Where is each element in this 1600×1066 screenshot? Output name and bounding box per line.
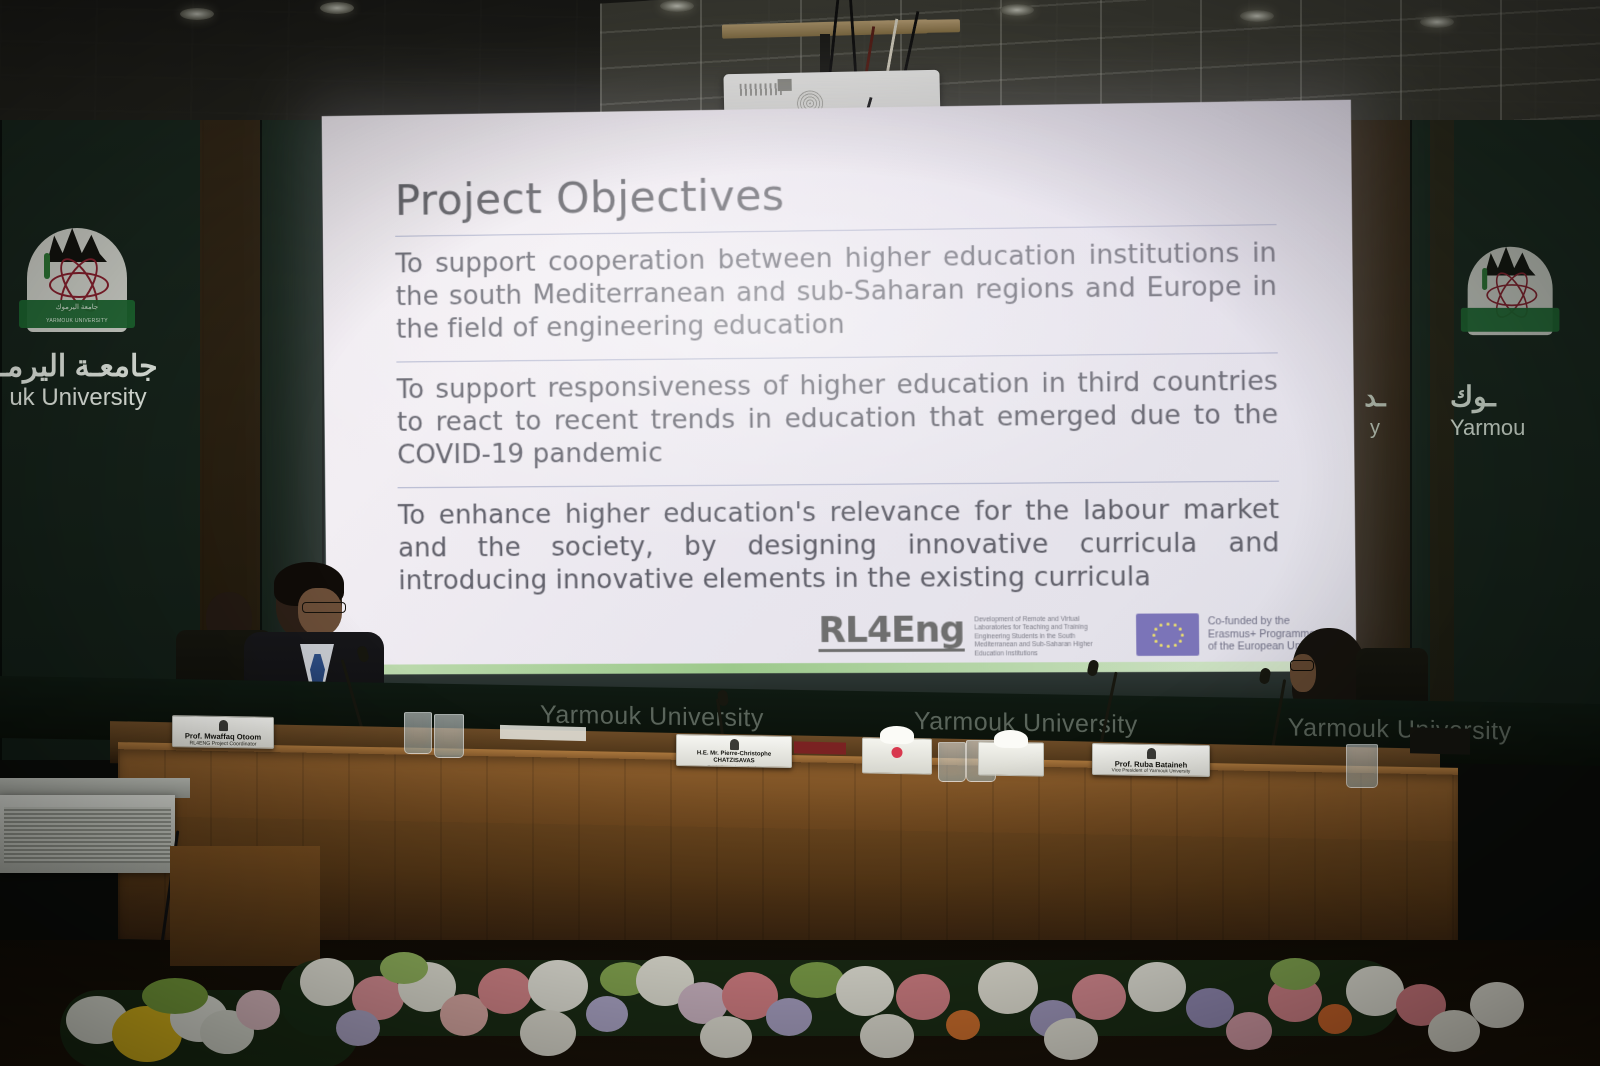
crest-band: جامعة اليرموك YARMOUK UNIVERSITY [19,300,135,328]
nameplate-coordinator: Prof. Mwaffaq Otoom RL4ENG Project Coord… [172,715,274,749]
water-glass [404,712,432,754]
notebook [794,741,846,754]
flower-white [700,1016,752,1058]
tissue-box [862,737,932,774]
flower-lavender [336,1010,380,1046]
rl4eng-wordmark: RL4Eng [818,612,964,652]
nameplate-role: Vice President of Yarmouk University [1093,768,1209,776]
flower-lavender [1186,988,1234,1028]
ceiling-downlight [1420,16,1454,28]
nameplate-crest-icon [1147,748,1156,759]
ceiling-downlight [660,0,694,12]
projection-screen: Project Objectives To support cooperatio… [322,100,1357,675]
tissue-box [978,741,1044,776]
slide-bullet-3: To enhance higher education's relevance … [398,493,1280,597]
wall-logo-arabic-left: جامعـة اليرمـ [0,350,178,384]
slide-content: Project Objectives To support cooperatio… [322,100,1357,675]
flower-green [1270,958,1320,990]
flower-white [1470,982,1524,1028]
wall-logo-english-right-far: Yarmou [1450,414,1600,442]
tissue-sheet [880,726,914,745]
water-glass [1346,744,1378,788]
crest-band-arabic: جامعة اليرموك [19,300,135,314]
flower-lavender [766,998,812,1036]
tissue-sheet [994,730,1028,749]
eyeglasses-icon [302,602,346,613]
mic-head [717,689,729,706]
flower-orange [1318,1004,1352,1034]
yarmouk-logo-left: جامعة اليرموك YARMOUK UNIVERSITY جامعـة … [0,222,178,412]
flower-lily-pink [478,968,532,1014]
presentation-room-photo: جامعة اليرموك YARMOUK UNIVERSITY جامعـة … [0,0,1600,1066]
flower-green [142,978,208,1014]
flower-white [860,1014,914,1058]
wall-logo-arabic-right-far: ـوك [1450,380,1600,414]
wheat-icon [44,253,50,279]
flower-white [1044,1018,1098,1060]
flower-pink [1226,1012,1272,1050]
water-glass [938,742,966,782]
laptop-or-monitor [1410,727,1470,755]
divider [395,224,1276,237]
flower-white-rose [300,958,354,1006]
flower-lily-pink [896,974,950,1020]
flower-white-rose [1128,962,1186,1012]
wall-panel [0,120,204,760]
slide-bullet-1: To support cooperation between higher ed… [395,236,1277,345]
rl4eng-tagline: Development of Remote and Virtual Labora… [974,612,1093,659]
eu-stars [1136,613,1199,656]
nameplate-crest-icon [219,720,228,731]
slide-title: Project Objectives [395,164,1277,226]
wall-logo-english-left: uk University [0,384,178,412]
wall-ac-unit [0,795,175,873]
nameplate-ambassador: H.E. Mr. Pierre-Christophe CHATZISAVAS E… [676,734,792,768]
eu-funding-line-1: Co-funded by the [1208,615,1315,628]
flower-white-rose [528,960,588,1012]
flower-pink [236,990,280,1030]
flower-white-rose [1346,966,1404,1016]
projector-vent [740,83,782,96]
ac-louvers [4,807,171,863]
divider [396,352,1277,362]
flower-orange [946,1010,980,1040]
ceiling-downlight [1240,10,1274,22]
mic-head [356,645,370,663]
divider [398,481,1279,489]
ceiling-downlight [180,8,214,20]
flower-white-rose [978,962,1038,1014]
flower-lily-pink [1072,974,1126,1020]
crest-band-english: YARMOUK UNIVERSITY [19,314,135,328]
eu-cofunding-logo: Co-funded by the Erasmus+ Programme of t… [1136,613,1316,656]
water-glass [434,714,464,758]
rl4eng-logo: RL4Eng Development of Remote and Virtual… [818,612,1093,659]
ceiling-downlight [320,2,354,14]
nameplate-crest-icon [730,739,739,750]
flower-lavender [586,996,628,1032]
flower-green [380,952,428,984]
yarmouk-logo-right-far: ـوك Yarmou [1450,380,1600,442]
projector-label [778,79,792,91]
yarmouk-crest-icon: جامعة اليرموك YARMOUK UNIVERSITY [19,222,137,350]
paper-stack [500,725,586,741]
slide-bullet-2: To support responsiveness of higher educ… [396,365,1278,472]
nameplate-vice-president: Prof. Ruba Bataineh Vice President of Ya… [1092,743,1210,777]
yarmouk-crest-right [1452,232,1570,360]
mic-head [1259,667,1272,684]
mic-head [1086,659,1099,677]
flower-white [520,1010,576,1056]
eu-flag-icon [1136,613,1199,656]
flower-white-rose [836,966,894,1016]
ceiling-downlight [1000,4,1034,16]
eu-funding-line-2: Erasmus+ Programme [1208,628,1315,641]
floral-arrangement [0,918,1600,1066]
tissue-brand-dot [892,747,903,758]
flower-white [1428,1010,1480,1052]
